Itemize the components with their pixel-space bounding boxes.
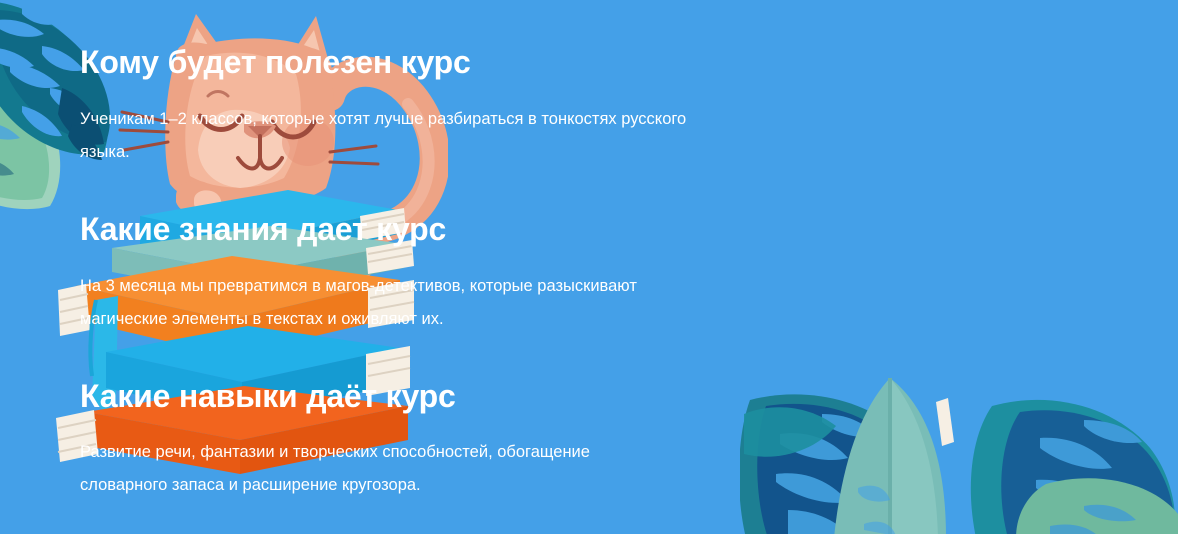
section-body-skills: Развитие речи, фантазии и творческих спо… <box>80 436 640 502</box>
section-who: Кому будет полезен курс Ученикам 1–2 кла… <box>80 44 700 169</box>
text-column: Кому будет полезен курс Ученикам 1–2 кла… <box>80 44 700 504</box>
section-heading-skills: Какие навыки даёт курс <box>80 378 700 415</box>
promo-banner: Кому будет полезен курс Ученикам 1–2 кла… <box>0 0 1178 534</box>
section-body-who: Ученикам 1–2 классов, которые хотят лучш… <box>80 103 695 169</box>
section-knowledge: Какие знания дает курс На 3 месяца мы пр… <box>80 211 700 336</box>
section-body-knowledge: На 3 месяца мы превратимся в магов-детек… <box>80 270 640 336</box>
monstera-leaves-bottom <box>740 378 1178 534</box>
section-skills: Какие навыки даёт курс Развитие речи, фа… <box>80 378 700 503</box>
section-heading-knowledge: Какие знания дает курс <box>80 211 700 248</box>
section-heading-who: Кому будет полезен курс <box>80 44 700 81</box>
